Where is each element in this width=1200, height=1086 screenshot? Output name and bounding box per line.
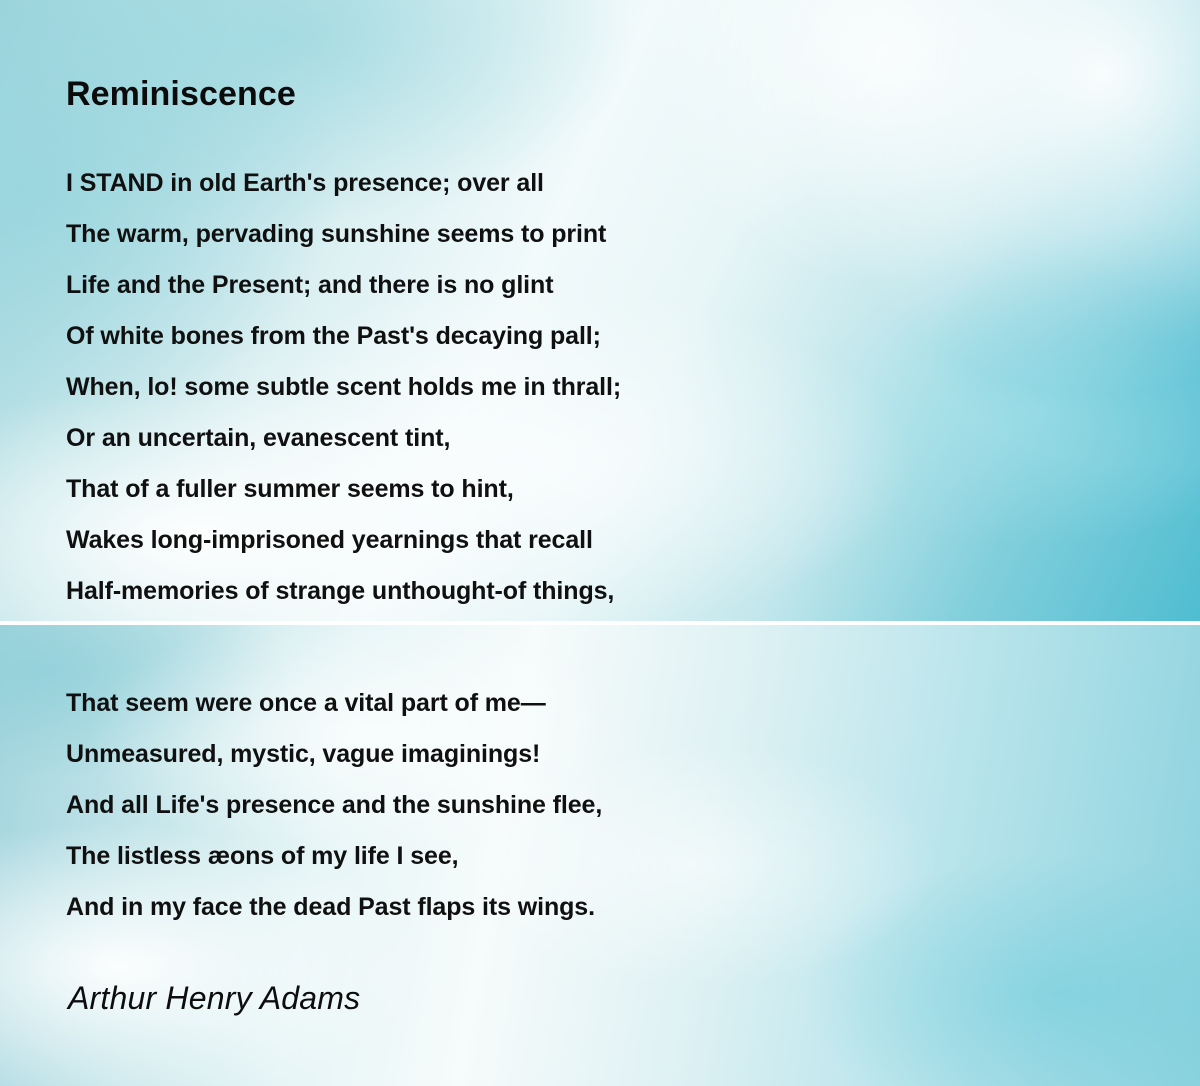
poem-line: When, lo! some subtle scent holds me in … — [66, 362, 621, 413]
poem-panel-bottom: That seem were once a vital part of me— … — [0, 625, 1200, 1086]
poem-line: Wakes long-imprisoned yearnings that rec… — [66, 515, 621, 566]
poem-card: Reminiscence I STAND in old Earth's pres… — [0, 0, 1200, 1086]
poem-stanza-two: That seem were once a vital part of me— … — [66, 678, 602, 933]
poem-line: Life and the Present; and there is no gl… — [66, 260, 621, 311]
poem-author-name: Arthur Henry Adams — [68, 980, 360, 1017]
poem-line: That seem were once a vital part of me— — [66, 678, 602, 729]
poem-line: And in my face the dead Past flaps its w… — [66, 882, 602, 933]
poem-line: Of white bones from the Past's decaying … — [66, 311, 621, 362]
poem-stanza-one: I STAND in old Earth's presence; over al… — [66, 158, 621, 617]
poem-line: Or an uncertain, evanescent tint, — [66, 413, 621, 464]
poem-text-layer-top: Reminiscence I STAND in old Earth's pres… — [0, 0, 1200, 623]
poem-line: And all Life's presence and the sunshine… — [66, 780, 602, 831]
poem-line: I STAND in old Earth's presence; over al… — [66, 158, 621, 209]
poem-line: Half-memories of strange unthought-of th… — [66, 566, 621, 617]
poem-line: The warm, pervading sunshine seems to pr… — [66, 209, 621, 260]
page-title: Reminiscence — [66, 75, 296, 114]
poem-text-layer-bottom: That seem were once a vital part of me— … — [0, 625, 1200, 1086]
poem-line: That of a fuller summer seems to hint, — [66, 464, 621, 515]
poem-panel-top: Reminiscence I STAND in old Earth's pres… — [0, 0, 1200, 623]
poem-line: Unmeasured, mystic, vague imaginings! — [66, 729, 602, 780]
poem-line: The listless æons of my life I see, — [66, 831, 602, 882]
